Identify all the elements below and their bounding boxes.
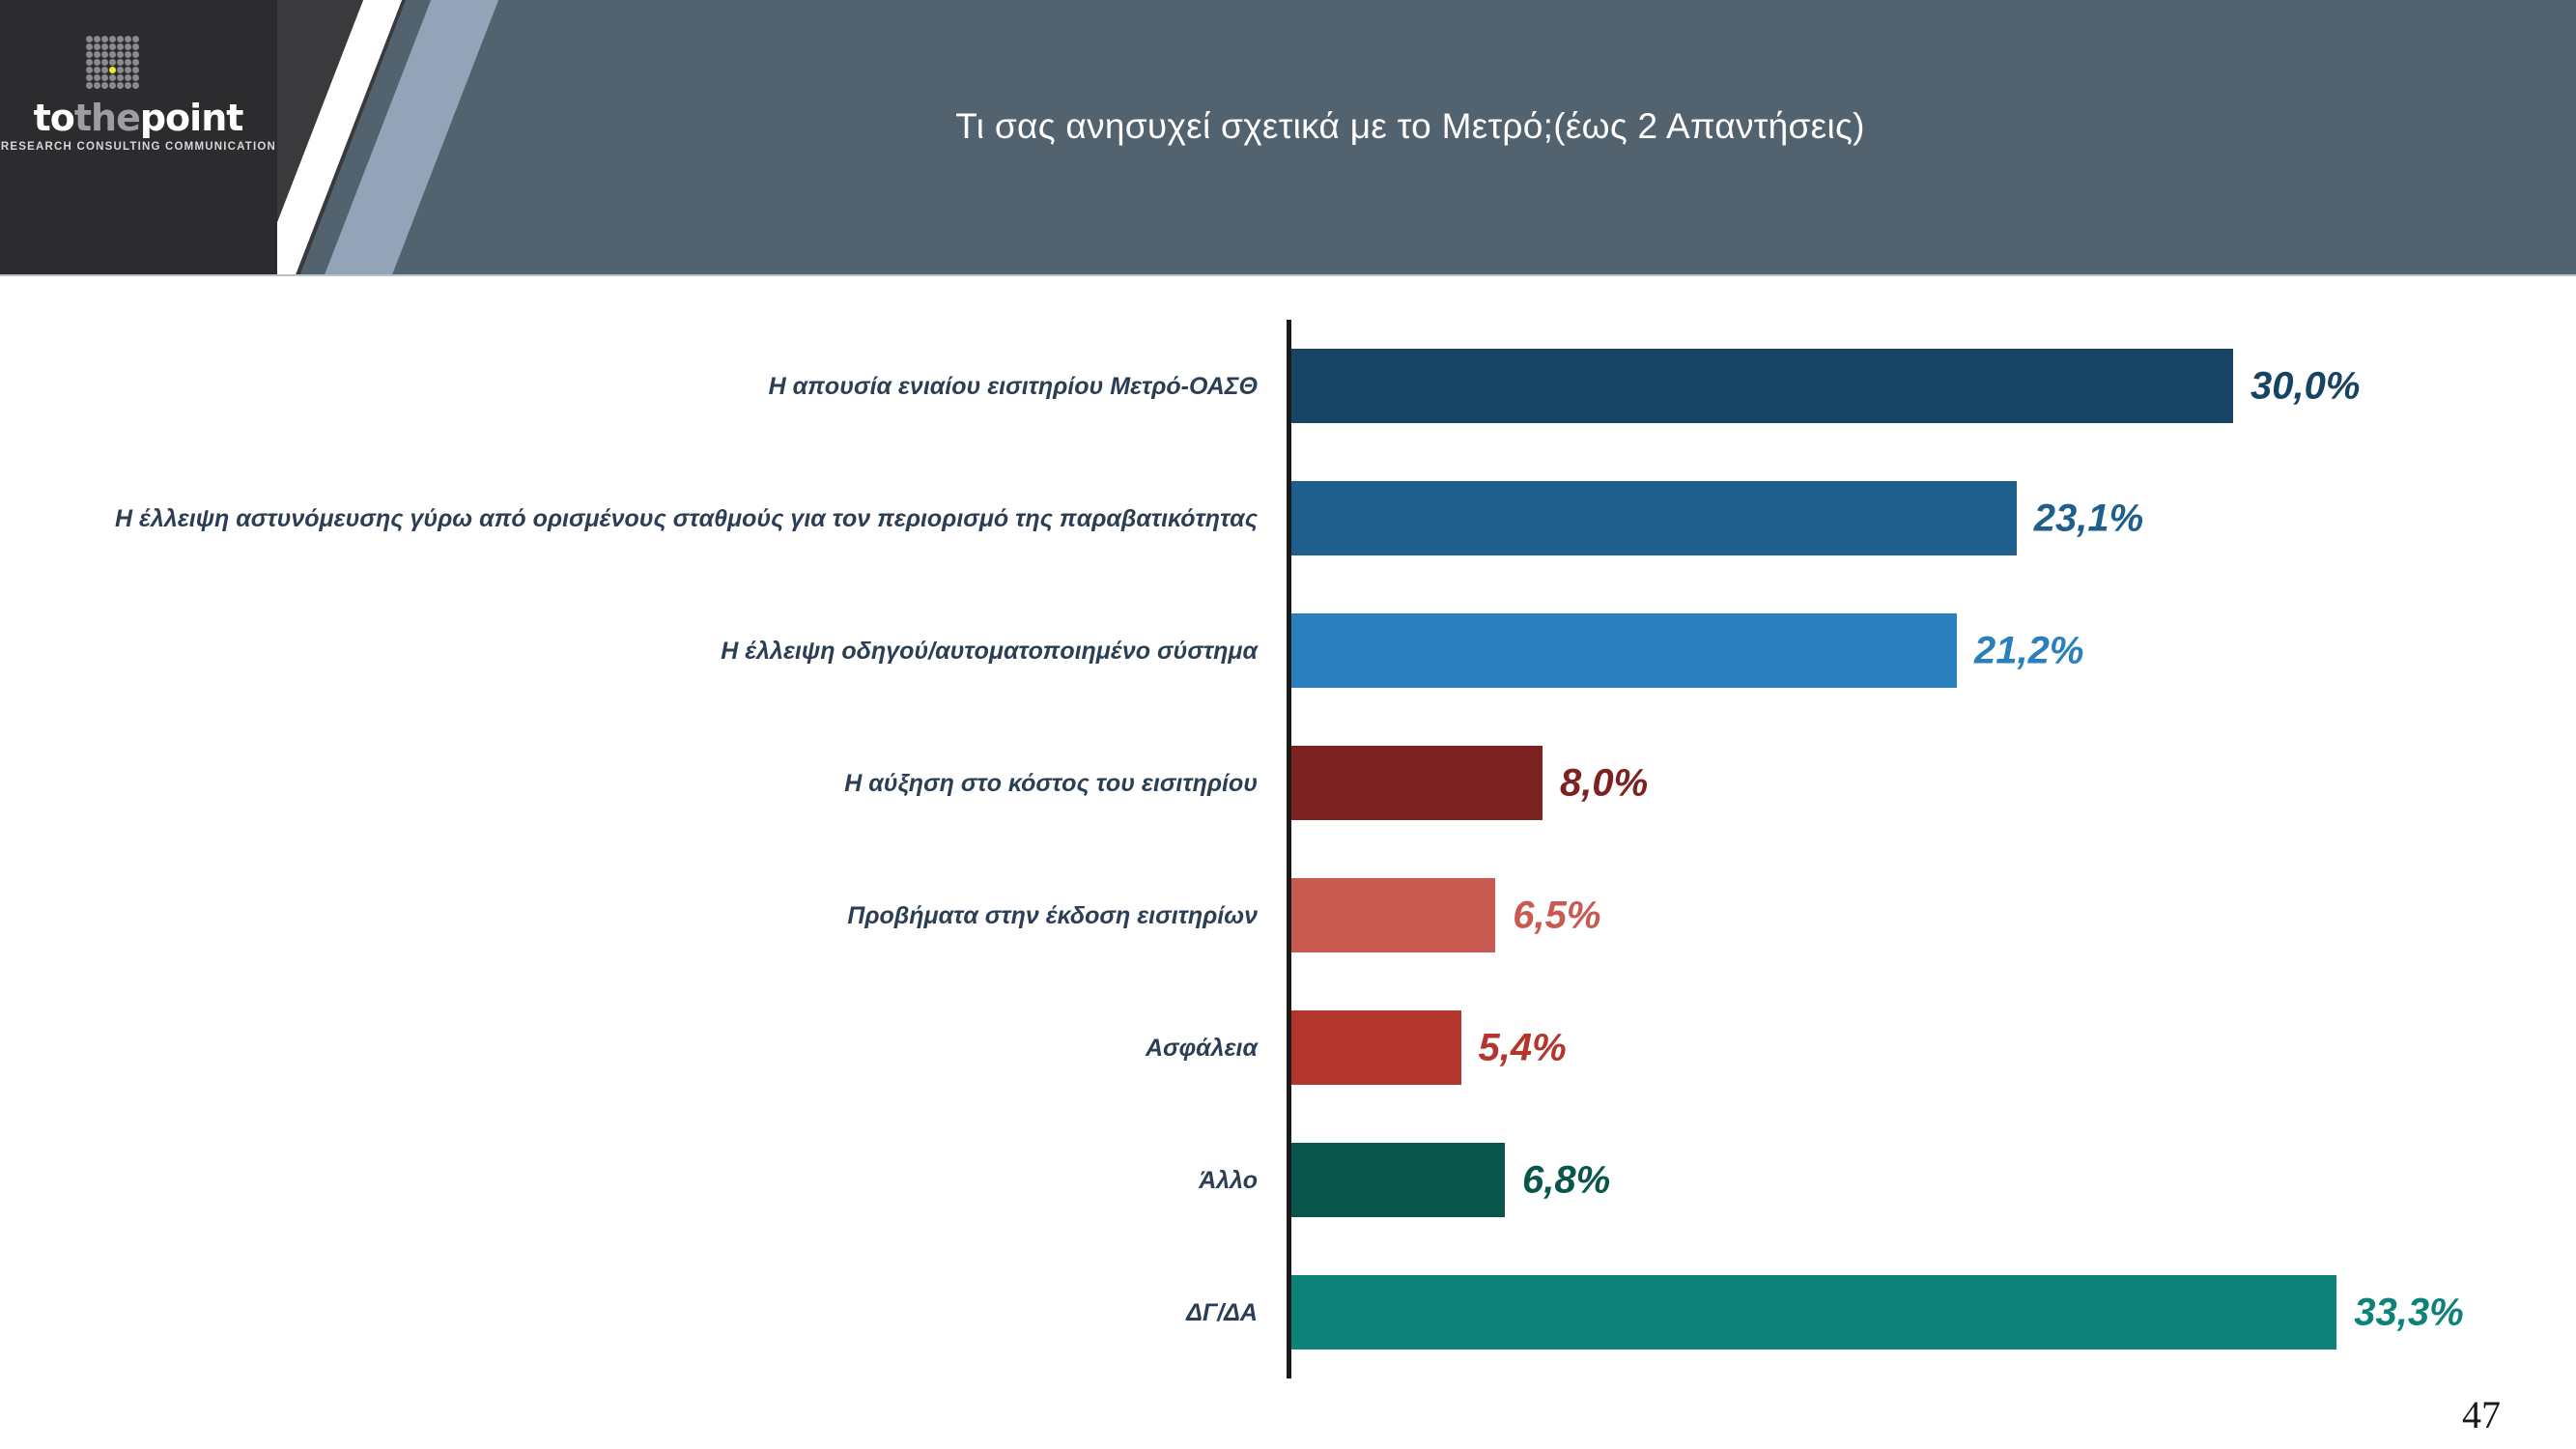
logo-dot [101,36,108,43]
bar-chart: Η απουσία ενιαίου εισιτηρίου Μετρό-ΟΑΣΘ3… [0,276,2576,1449]
logo-dot [117,43,124,50]
logo-dot [117,82,124,89]
logo-dot-grid-icon [86,36,140,90]
logo-dot [109,74,116,81]
logo-dot [109,67,116,73]
bar-rows-container: Η απουσία ενιαίου εισιτηρίου Μετρό-ΟΑΣΘ3… [0,320,2576,1378]
logo-dot [125,43,131,50]
bar-value-label: 6,8% [1522,1158,1610,1202]
bar-value-label: 23,1% [2034,497,2143,540]
logo-dot [94,43,100,50]
logo-dot [86,36,93,43]
bar-row: Άλλο6,8% [0,1143,2576,1217]
company-logo: tothepoint RESEARCH CONSULTING COMMUNICA… [0,0,277,276]
logo-dot [117,74,124,81]
logo-dot [117,67,124,73]
logo-dot [132,59,139,66]
logo-dot [132,36,139,43]
logo-dot [94,82,100,89]
logo-dot [125,36,131,43]
logo-dot [125,67,131,73]
logo-tagline: RESEARCH CONSULTING COMMUNICATION [0,141,277,153]
slide-header: tothepoint RESEARCH CONSULTING COMMUNICA… [0,0,2576,276]
logo-dot [101,82,108,89]
logo-dot [132,43,139,50]
category-label: Η αύξηση στο κόστος του εισιτηρίου [0,768,1258,799]
bar-row: Προβήματα στην έκδοση εισιτηρίων6,5% [0,878,2576,952]
bar-value-label: 5,4% [1479,1026,1567,1069]
bar-row: ΔΓ/ΔΑ33,3% [0,1275,2576,1350]
bar [1291,481,2017,555]
bar-value-label: 33,3% [2354,1291,2463,1334]
logo-dot [117,51,124,58]
category-label: Προβήματα στην έκδοση εισιτηρίων [0,900,1258,931]
bar-value-label: 6,5% [1513,894,1600,937]
category-label: Η έλλειψη αστυνόμευσης γύρω από ορισμένο… [0,503,1258,534]
logo-dot [125,74,131,81]
logo-dot [132,74,139,81]
bar-row: Η απουσία ενιαίου εισιτηρίου Μετρό-ΟΑΣΘ3… [0,349,2576,423]
logo-word-point: point [140,97,243,139]
page-title: Τι σας ανησυχεί σχετικά με το Μετρό;(έως… [290,106,2531,147]
bar-value-label: 30,0% [2250,364,2360,408]
page-number: 47 [2462,1392,2501,1437]
logo-dot [109,43,116,50]
bar [1291,613,1957,688]
bar [1291,746,1543,820]
bar [1291,1143,1505,1217]
logo-dot [125,82,131,89]
logo-dot [86,51,93,58]
bar [1291,349,2233,423]
logo-dot [86,43,93,50]
logo-word-to: to [34,97,74,139]
logo-dot [101,43,108,50]
category-label: Η απουσία ενιαίου εισιτηρίου Μετρό-ΟΑΣΘ [0,371,1258,402]
logo-dot [86,67,93,73]
logo-dot [125,51,131,58]
logo-dot [86,82,93,89]
logo-dot [86,74,93,81]
bar [1291,878,1495,952]
logo-wordmark: tothepoint [8,97,269,139]
logo-dot [101,59,108,66]
logo-dot [109,51,116,58]
bar-row: Ασφάλεια5,4% [0,1010,2576,1085]
category-label: ΔΓ/ΔΑ [0,1297,1258,1328]
logo-dot [94,74,100,81]
bar-row: Η έλλειψη αστυνόμευσης γύρω από ορισμένο… [0,481,2576,555]
bar [1291,1275,2336,1350]
logo-dot [101,67,108,73]
logo-dot [94,51,100,58]
logo-dot [94,59,100,66]
logo-dot [86,59,93,66]
category-label: Ασφάλεια [0,1033,1258,1064]
logo-dot [94,67,100,73]
logo-dot [132,51,139,58]
logo-dot [109,59,116,66]
logo-dot [117,59,124,66]
logo-dot [117,36,124,43]
logo-dot [101,74,108,81]
bar [1291,1010,1461,1085]
bar-value-label: 21,2% [1974,629,2083,672]
logo-dot [94,36,100,43]
logo-dot [109,36,116,43]
bar-row: Η αύξηση στο κόστος του εισιτηρίου8,0% [0,746,2576,820]
bar-value-label: 8,0% [1560,761,1648,805]
logo-dot [132,82,139,89]
logo-word-the: the [74,97,140,139]
category-label: Άλλο [0,1165,1258,1196]
category-label: Η έλλειψη οδηγού/αυτοματοποιημένο σύστημ… [0,636,1258,667]
logo-dot [109,82,116,89]
bar-row: Η έλλειψη οδηγού/αυτοματοποιημένο σύστημ… [0,613,2576,688]
logo-dot [132,67,139,73]
logo-dot [125,59,131,66]
logo-dot [101,51,108,58]
